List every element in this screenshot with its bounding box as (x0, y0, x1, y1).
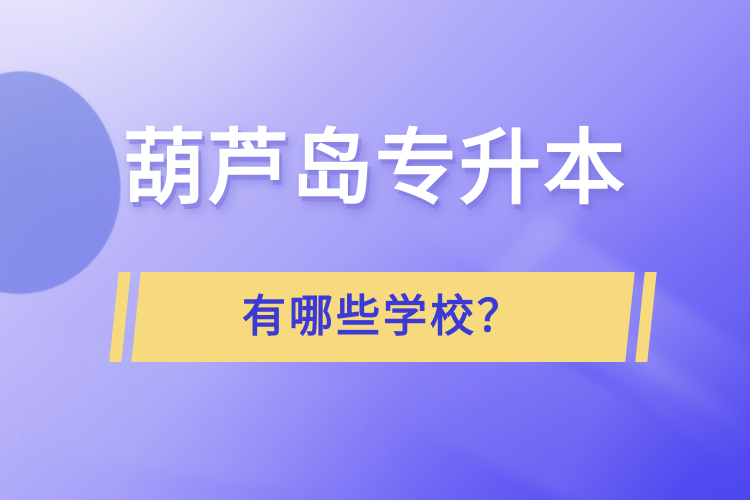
left-accent-bar (109, 272, 130, 362)
banner-body: 有哪些学校？ (131, 272, 634, 362)
background-light-bloom (0, 0, 750, 500)
right-accent-bar (635, 272, 656, 362)
question-banner: 有哪些学校？ (110, 272, 656, 362)
poster-headline: 葫芦岛专升本 (0, 126, 750, 212)
poster-canvas: 葫芦岛专升本 有哪些学校？ (0, 0, 750, 500)
banner-question-text: 有哪些学校？ (242, 295, 524, 339)
